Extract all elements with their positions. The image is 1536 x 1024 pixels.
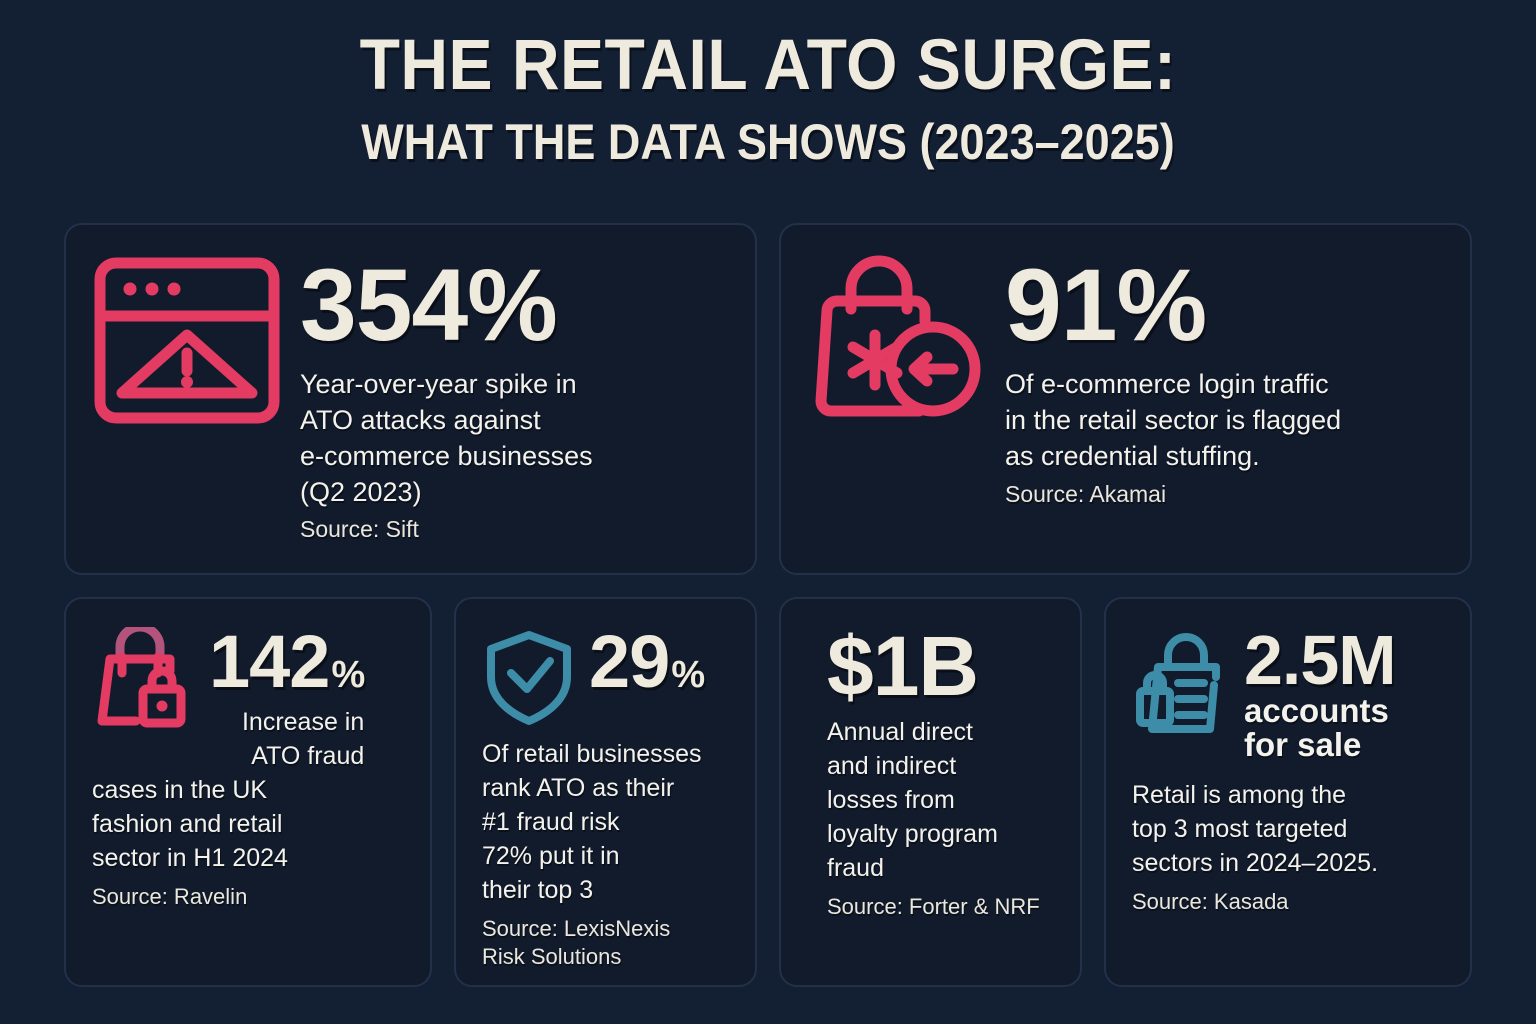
padlock-asterisk-back-arrow-icon bbox=[807, 253, 987, 428]
stat-value-loyalty-losses: $1B bbox=[827, 627, 1054, 707]
stat-card-accounts-for-sale: 2.5M accounts for sale Retail is among t… bbox=[1104, 597, 1472, 987]
stat-source-fraud-rank: Source: LexisNexis Risk Solutions bbox=[482, 915, 729, 970]
shopping-bag-list-lock-icon bbox=[1132, 627, 1232, 738]
stat-description-loyalty-losses: Annual direct and indirect losses from l… bbox=[827, 715, 1054, 885]
page-title: THE RETAIL ATO SURGE: bbox=[54, 30, 1482, 101]
page-subtitle: WHAT THE DATA SHOWS (2023–2025) bbox=[77, 117, 1459, 167]
stat-value-ato-spike: 354% bbox=[300, 259, 593, 353]
shopping-bag-lock-icon bbox=[92, 627, 197, 732]
stats-row-top: 354% Year-over-year spike in ATO attacks… bbox=[64, 223, 1472, 575]
infographic-header: THE RETAIL ATO SURGE: WHAT THE DATA SHOW… bbox=[0, 0, 1536, 167]
stat-description-ato-spike: Year-over-year spike in ATO attacks agai… bbox=[300, 367, 593, 511]
stat-source-accounts-for-sale: Source: Kasada bbox=[1132, 888, 1444, 916]
stat-source-uk-fashion: Source: Ravelin bbox=[92, 883, 404, 911]
stat-card-ato-spike: 354% Year-over-year spike in ATO attacks… bbox=[64, 223, 757, 575]
browser-window-warning-icon bbox=[92, 253, 282, 428]
stat-source-loyalty-losses: Source: Forter & NRF bbox=[827, 893, 1054, 921]
stat-card-fraud-rank: 29% Of retail businesses rank ATO as the… bbox=[454, 597, 757, 987]
stat-description-fraud-rank: Of retail businesses rank ATO as their #… bbox=[482, 737, 729, 907]
stat-value-credential-stuffing: 91% bbox=[1005, 259, 1341, 353]
stat-card-uk-fashion: 142% Increase in ATO fraud cases in the … bbox=[64, 597, 432, 987]
stat-card-loyalty-losses: $1B Annual direct and indirect losses fr… bbox=[779, 597, 1082, 987]
stats-row-bottom: 142% Increase in ATO fraud cases in the … bbox=[64, 597, 1472, 987]
stat-description-accounts-for-sale: Retail is among the top 3 most targeted … bbox=[1132, 778, 1444, 880]
stat-source-credential-stuffing: Source: Akamai bbox=[1005, 481, 1341, 508]
stat-value-uk-fashion: 142% bbox=[209, 627, 364, 697]
stat-label-accounts-for-sale: accounts for sale bbox=[1244, 694, 1396, 763]
stat-card-credential-stuffing: 91% Of e-commerce login traffic in the r… bbox=[779, 223, 1472, 575]
stat-value-fraud-rank: 29% bbox=[589, 627, 704, 697]
stat-description-uk-fashion-top: Increase in ATO fraud bbox=[209, 705, 364, 773]
shield-check-icon bbox=[482, 627, 577, 727]
stat-value-accounts-for-sale: 2.5M bbox=[1244, 627, 1396, 694]
stat-description-credential-stuffing: Of e-commerce login traffic in the retai… bbox=[1005, 367, 1341, 475]
stat-source-ato-spike: Source: Sift bbox=[300, 516, 593, 543]
stat-description-uk-fashion-bottom: cases in the UK fashion and retail secto… bbox=[92, 773, 404, 875]
